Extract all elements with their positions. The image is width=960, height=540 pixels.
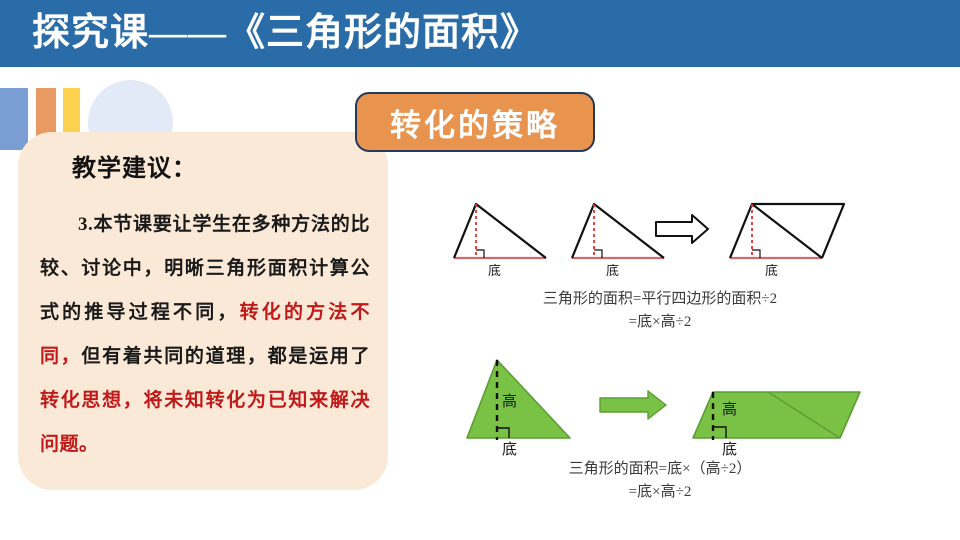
diagram-triangle-to-parallelogram: 底 底 底 <box>440 188 880 288</box>
strategy-badge[interactable]: 转化的策略 <box>355 92 595 152</box>
decorative-bar-blue <box>0 88 28 150</box>
body-segment-4-highlight: 转化思想，将未知转化为已知来解决问题。 <box>40 390 370 455</box>
diagram-green-triangle-to-parallelogram: 高 底 高 底 <box>450 348 880 460</box>
formula-top-line1: 三角形的面积=平行四边形的面积÷2 <box>543 291 777 307</box>
parallelogram-shape-1 <box>730 204 844 258</box>
green-triangle-shape <box>467 360 570 440</box>
green-parallelogram-shape <box>693 392 860 440</box>
green-right-arrow-icon <box>600 391 666 419</box>
base-label-triangle: 底 <box>502 438 517 459</box>
formula-top: 三角形的面积=平行四边形的面积÷2 =底×高÷2 <box>440 288 880 334</box>
body-segment-3: 但有着共同的道理，都是运用了 <box>81 346 370 367</box>
base-label-parallelogram: 底 <box>722 438 737 459</box>
slide-canvas: 探究课——《三角形的面积》 教学建议： 3.本节课要让学生在多种方法的比较、讨论… <box>0 0 960 540</box>
height-label-parallelogram: 高 <box>722 398 737 419</box>
formula-top-line2: =底×高÷2 <box>440 311 880 334</box>
triangle-shape-2 <box>572 204 664 258</box>
base-label-2: 底 <box>606 260 619 279</box>
panel-heading: 教学建议： <box>72 148 197 183</box>
hollow-right-arrow-icon <box>656 215 708 243</box>
base-label-3: 底 <box>765 260 778 279</box>
strategy-badge-label: 转化的策略 <box>390 100 560 145</box>
base-label-1: 底 <box>488 260 501 279</box>
page-title: 探究课——《三角形的面积》 <box>32 1 539 56</box>
formula-bottom-line1: 三角形的面积=底×（高÷2） <box>569 461 752 477</box>
triangle-shape-1 <box>454 204 546 258</box>
formula-bottom: 三角形的面积=底×（高÷2） =底×高÷2 <box>440 458 880 504</box>
panel-body-text: 3.本节课要让学生在多种方法的比较、讨论中，明晰三角形面积计算公式的推导过程不同… <box>40 203 370 467</box>
formula-bottom-line2: =底×高÷2 <box>440 481 880 504</box>
height-label-triangle: 高 <box>502 390 517 411</box>
